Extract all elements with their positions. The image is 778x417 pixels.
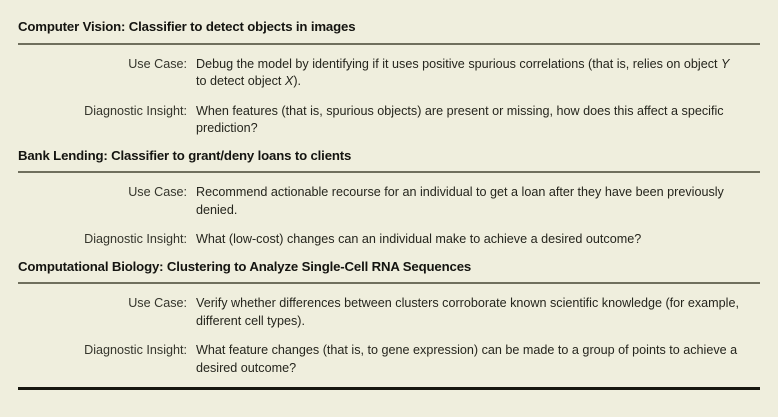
section-rows: Use Case: Debug the model by identifying… [18, 56, 760, 138]
row-label-diagnostic-insight: Diagnostic Insight: [18, 342, 196, 360]
table-row: Diagnostic Insight: When features (that … [18, 103, 760, 138]
row-label-use-case: Use Case: [18, 184, 196, 202]
row-label-use-case: Use Case: [18, 295, 196, 313]
row-value-diagnostic-insight: What feature changes (that is, to gene e… [196, 342, 741, 377]
row-label-use-case: Use Case: [18, 56, 196, 74]
section-rows: Use Case: Recommend actionable recourse … [18, 184, 760, 249]
table-section: Computational Biology: Clustering to Ana… [18, 260, 760, 388]
row-label-diagnostic-insight: Diagnostic Insight: [18, 231, 196, 249]
row-value-use-case: Debug the model by identifying if it use… [196, 56, 741, 91]
row-value-diagnostic-insight: When features (that is, spurious objects… [196, 103, 741, 138]
table-row: Use Case: Debug the model by identifying… [18, 56, 760, 91]
row-value-diagnostic-insight: What (low-cost) changes can an individua… [196, 231, 741, 249]
table-row: Use Case: Recommend actionable recourse … [18, 184, 760, 219]
row-label-diagnostic-insight: Diagnostic Insight: [18, 103, 196, 121]
section-heading: Bank Lending: Classifier to grant/deny l… [18, 149, 760, 164]
table-section: Computer Vision: Classifier to detect ob… [18, 0, 760, 149]
table-bottom-border [18, 387, 760, 390]
comparison-table: Computer Vision: Classifier to detect ob… [0, 0, 778, 417]
row-value-use-case: Verify whether differences between clust… [196, 295, 741, 330]
table-row: Diagnostic Insight: What (low-cost) chan… [18, 231, 760, 249]
table-row: Use Case: Verify whether differences bet… [18, 295, 760, 330]
section-rows: Use Case: Verify whether differences bet… [18, 295, 760, 377]
row-value-use-case: Recommend actionable recourse for an ind… [196, 184, 741, 219]
table-row: Diagnostic Insight: What feature changes… [18, 342, 760, 377]
section-heading: Computer Vision: Classifier to detect ob… [18, 20, 760, 35]
section-heading: Computational Biology: Clustering to Ana… [18, 260, 760, 275]
table-section: Bank Lending: Classifier to grant/deny l… [18, 149, 760, 260]
